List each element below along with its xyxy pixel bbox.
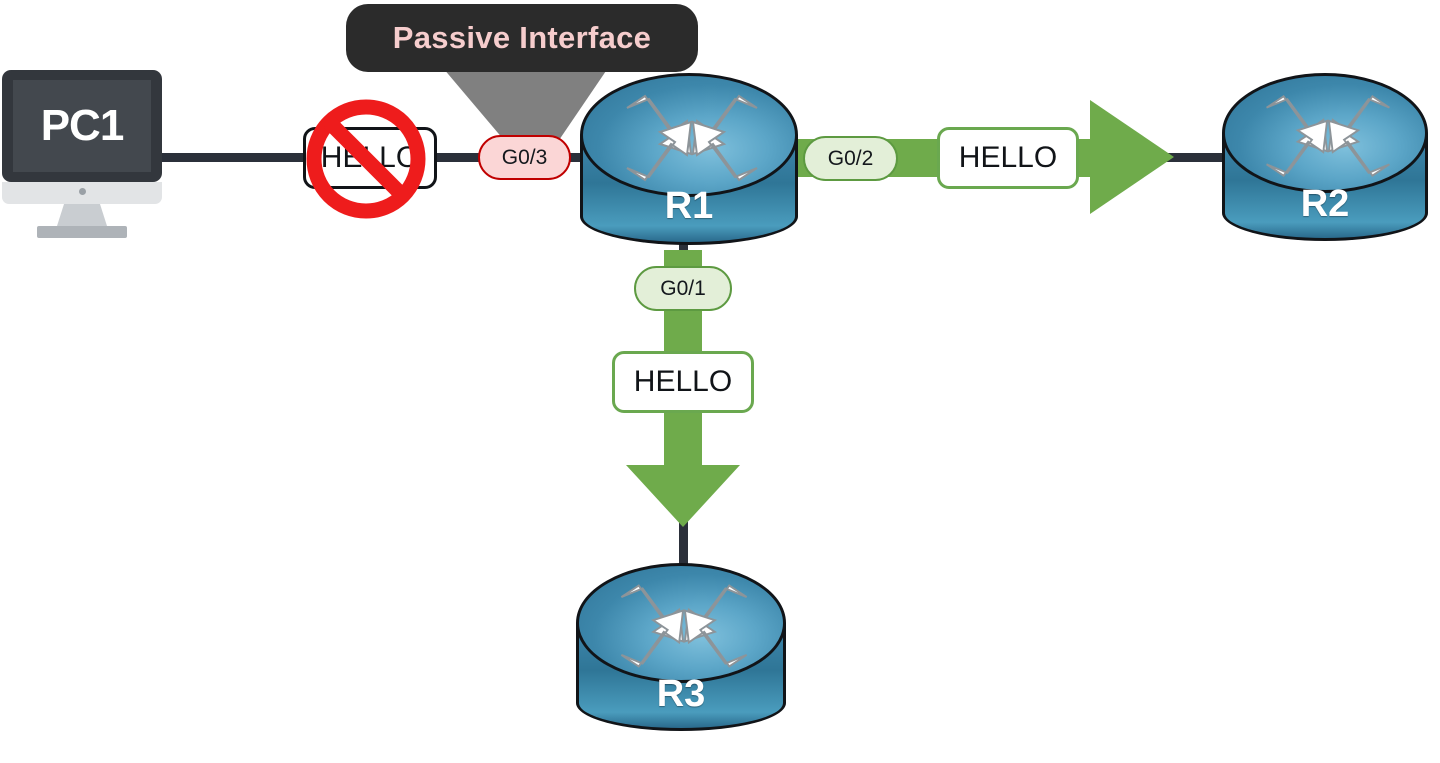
passive-interface-callout: Passive Interface xyxy=(346,4,698,72)
router-r2-label: R2 xyxy=(1222,183,1428,226)
router-r1-node[interactable]: R1 xyxy=(580,73,798,245)
hello-message-r3: HELLO xyxy=(612,351,754,413)
interface-pill-g01-label: G0/1 xyxy=(660,277,706,301)
router-arrows-icon xyxy=(583,76,798,197)
prohibition-icon xyxy=(303,96,429,222)
interface-pill-g03-label: G0/3 xyxy=(502,146,548,170)
router-r1-label: R1 xyxy=(580,185,798,228)
interface-pill-g01[interactable]: G0/1 xyxy=(634,266,732,311)
router-r2-top xyxy=(1222,73,1428,193)
router-arrows-icon xyxy=(579,566,786,683)
router-r2-node[interactable]: R2 xyxy=(1222,73,1428,241)
pc1-node[interactable]: PC1 xyxy=(0,70,170,240)
hello-message-r2: HELLO xyxy=(937,127,1079,189)
pc1-screen: PC1 xyxy=(13,80,151,172)
interface-pill-g02[interactable]: G0/2 xyxy=(803,136,898,181)
router-r3-top xyxy=(576,563,786,683)
passive-interface-callout-label: Passive Interface xyxy=(393,20,651,56)
router-r3-node[interactable]: R3 xyxy=(576,563,786,731)
pc1-label: PC1 xyxy=(41,101,124,151)
pc1-base xyxy=(37,226,127,238)
router-r1-top xyxy=(580,73,798,197)
interface-pill-g02-label: G0/2 xyxy=(828,147,874,171)
hello-flow-arrowhead-r3 xyxy=(626,465,740,527)
hello-message-r3-label: HELLO xyxy=(634,365,732,399)
router-r3-label: R3 xyxy=(576,673,786,716)
pc1-stand xyxy=(57,204,107,226)
pc1-power-dot xyxy=(79,188,86,195)
hello-message-r2-label: HELLO xyxy=(959,141,1057,175)
interface-pill-g03[interactable]: G0/3 xyxy=(478,135,571,180)
hello-flow-arrowhead-r2 xyxy=(1090,100,1174,214)
router-arrows-icon xyxy=(1225,76,1428,193)
network-diagram-canvas: PC1 R1 xyxy=(0,0,1440,763)
